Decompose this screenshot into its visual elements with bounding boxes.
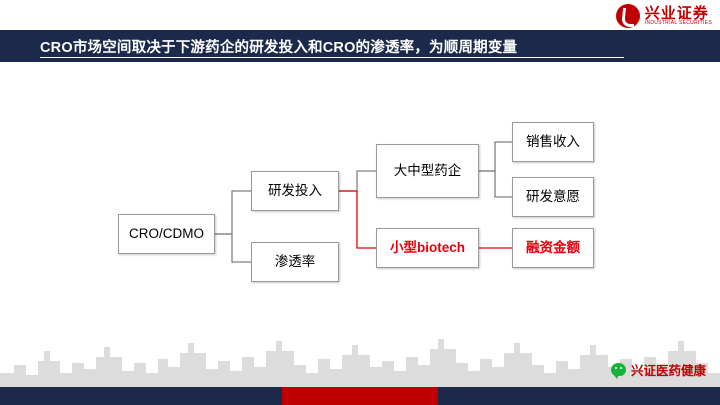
wechat-account-block: 兴证医药健康 [611,360,706,379]
logo-company-en: INDUSTRIAL SECURITIES [645,21,712,26]
footer-segment-left [0,387,282,405]
connector-lines [0,62,720,340]
title-underline [40,57,624,58]
slide-header: 兴业证券 INDUSTRIAL SECURITIES [0,0,720,30]
slide: 兴业证券 INDUSTRIAL SECURITIES CRO市场空间取决于下游药… [0,0,720,405]
footer-segment-center [282,387,438,405]
node-label: 销售收入 [526,134,580,151]
node-financing-amount[interactable]: 融资金额 [512,228,594,268]
node-label: 渗透率 [275,254,316,271]
logo-company-cn: 兴业证券 [645,6,712,22]
node-small-biotech[interactable]: 小型biotech [376,228,479,268]
company-logo: 兴业证券 INDUSTRIAL SECURITIES [616,2,712,30]
node-label: CRO/CDMO [129,226,204,243]
wechat-account-name: 兴证医药健康 [631,360,706,379]
node-rd-investment[interactable]: 研发投入 [251,171,339,211]
node-penetration-rate[interactable]: 渗透率 [251,242,339,282]
page-title: CRO市场空间取决于下游药企的研发投入和CRO的渗透率，为顺周期变量 [0,36,517,57]
logo-text-block: 兴业证券 INDUSTRIAL SECURITIES [645,6,712,27]
node-sales-revenue[interactable]: 销售收入 [512,122,594,162]
node-large-pharma[interactable]: 大中型药企 [376,144,479,198]
title-band: CRO市场空间取决于下游药企的研发投入和CRO的渗透率，为顺周期变量 [0,30,720,62]
footer-bar [0,387,720,405]
node-label: 研发意愿 [526,189,580,206]
xingye-logo-icon [616,4,640,28]
flow-diagram: CRO/CDMO 研发投入 渗透率 大中型药企 小型biotech 销售收入 研… [0,62,720,340]
footer-segment-right [438,387,720,405]
node-label: 小型biotech [390,240,465,257]
node-label: 大中型药企 [394,163,462,180]
node-label: 融资金额 [526,240,580,257]
wechat-icon [611,363,626,376]
node-rd-willingness[interactable]: 研发意愿 [512,177,594,217]
node-cro-cdmo[interactable]: CRO/CDMO [118,214,215,254]
node-label: 研发投入 [268,183,322,200]
